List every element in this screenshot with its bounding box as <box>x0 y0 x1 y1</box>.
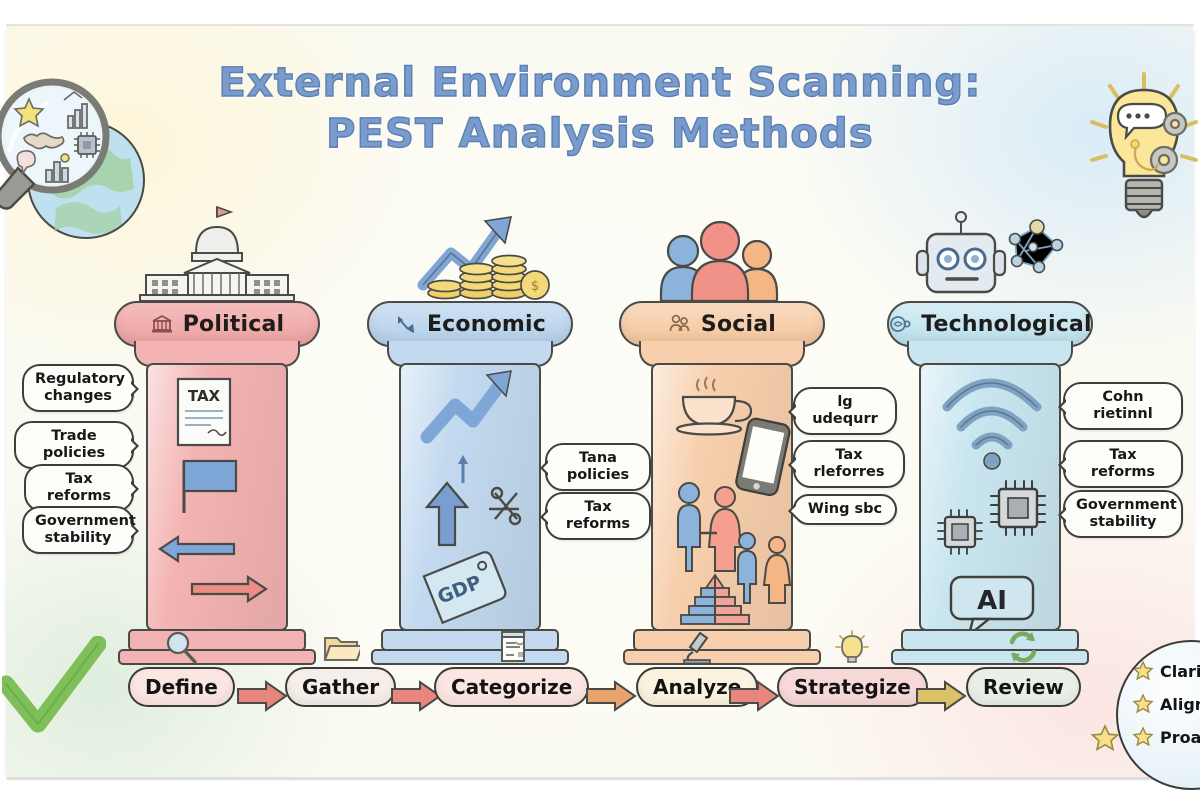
pillar-social-label: Social <box>701 312 776 337</box>
flow-arrow-4 <box>728 680 780 712</box>
coin-stacks-rising-arrow-icon: $ <box>385 205 555 301</box>
magnifier-icon <box>162 630 200 664</box>
pillar-technological-label: Technological <box>921 312 1091 337</box>
flow-step-gather[interactable]: Gather <box>285 630 396 707</box>
benefit-label-2: Alignment <box>1160 695 1200 714</box>
benefit-item-3: Proactive <box>1132 726 1200 748</box>
pillar-political-icons: TAX <box>148 365 288 631</box>
flow-step-categorize-label: Categorize <box>434 667 589 707</box>
refresh-cycle-icon <box>1004 630 1042 664</box>
flow-step-review-label: Review <box>966 667 1081 707</box>
benefit-item-1: Clarity <box>1132 660 1200 682</box>
pillar-social-shaft <box>651 363 793 631</box>
flow-step-strategize-label: Strategize <box>777 667 928 707</box>
robot-head-network-icon <box>905 205 1075 301</box>
star-icon <box>1132 660 1154 682</box>
flow-step-categorize[interactable]: Categorize <box>434 630 589 707</box>
pillar-social-icons <box>653 365 793 631</box>
benefit-item-2: Alignment <box>1132 693 1200 715</box>
callout-political-3[interactable]: Tax reforms <box>24 464 134 512</box>
people-group-icon <box>668 312 692 336</box>
flow-arrow-1 <box>236 680 288 712</box>
flow-step-strategize[interactable]: Strategize <box>777 630 928 707</box>
callout-technological-2[interactable]: Tax reforms <box>1063 440 1183 488</box>
document-list-icon <box>493 630 531 664</box>
pillar-political-label: Political <box>183 312 285 337</box>
pillar-economic-shaft: GDP <box>399 363 541 631</box>
lightbulb-icon <box>833 630 871 664</box>
gear-eye-icon <box>888 312 912 336</box>
benefit-label-3: Proactive <box>1160 728 1200 747</box>
callout-economic-1[interactable]: Tana policies <box>545 443 651 491</box>
flow-step-review[interactable]: Review <box>966 630 1081 707</box>
pillar-technological-shaft: AI <box>919 363 1061 631</box>
folder-icon <box>322 630 360 664</box>
star-icon <box>1132 726 1154 748</box>
svg-text:TAX: TAX <box>188 387 221 405</box>
magnifier-globe-icon <box>0 58 150 248</box>
flow-step-define[interactable]: Define <box>128 630 235 707</box>
paper-edge-bottom <box>6 777 1194 780</box>
pillar-political-shaft: TAX <box>146 363 288 631</box>
svg-text:$: $ <box>531 279 539 294</box>
capitol-building-icon <box>132 205 302 301</box>
star-icon <box>1132 693 1154 715</box>
flow-step-gather-label: Gather <box>285 667 396 707</box>
callout-social-1[interactable]: lg udequrr <box>793 387 897 435</box>
callout-political-1[interactable]: Regulatory changes <box>22 364 134 412</box>
svg-text:AI: AI <box>977 586 1007 616</box>
infographic-canvas: External Environment Scanning: PEST Anal… <box>0 0 1200 800</box>
lightbulb-idea-icon <box>1088 68 1200 254</box>
microscope-icon <box>678 630 716 664</box>
pillar-economic-icons: GDP <box>401 365 541 631</box>
flow-arrow-5 <box>915 680 967 712</box>
government-building-icon <box>150 312 174 336</box>
process-flow: Define Gather Categorize <box>0 628 1200 736</box>
benefit-label-1: Clarity <box>1160 662 1200 681</box>
callout-economic-2[interactable]: Tax reforms <box>545 492 651 540</box>
trend-arrow-icon <box>394 312 418 336</box>
callout-social-3[interactable]: Wing sbc <box>793 494 897 525</box>
star-icon <box>1090 724 1120 754</box>
pillar-economic-label: Economic <box>427 312 546 337</box>
callout-political-2[interactable]: Trade policies <box>14 421 134 469</box>
callout-technological-1[interactable]: Cohn rietinnl <box>1063 382 1183 430</box>
three-people-icon <box>637 205 807 301</box>
callout-technological-3[interactable]: Government stability <box>1063 490 1183 538</box>
flow-arrow-3 <box>585 680 637 712</box>
flow-step-define-label: Define <box>128 667 235 707</box>
pillar-technological-icons: AI <box>921 365 1061 631</box>
callout-social-2[interactable]: Tax rleforres <box>793 440 905 488</box>
callout-political-4[interactable]: Government stability <box>22 506 134 554</box>
